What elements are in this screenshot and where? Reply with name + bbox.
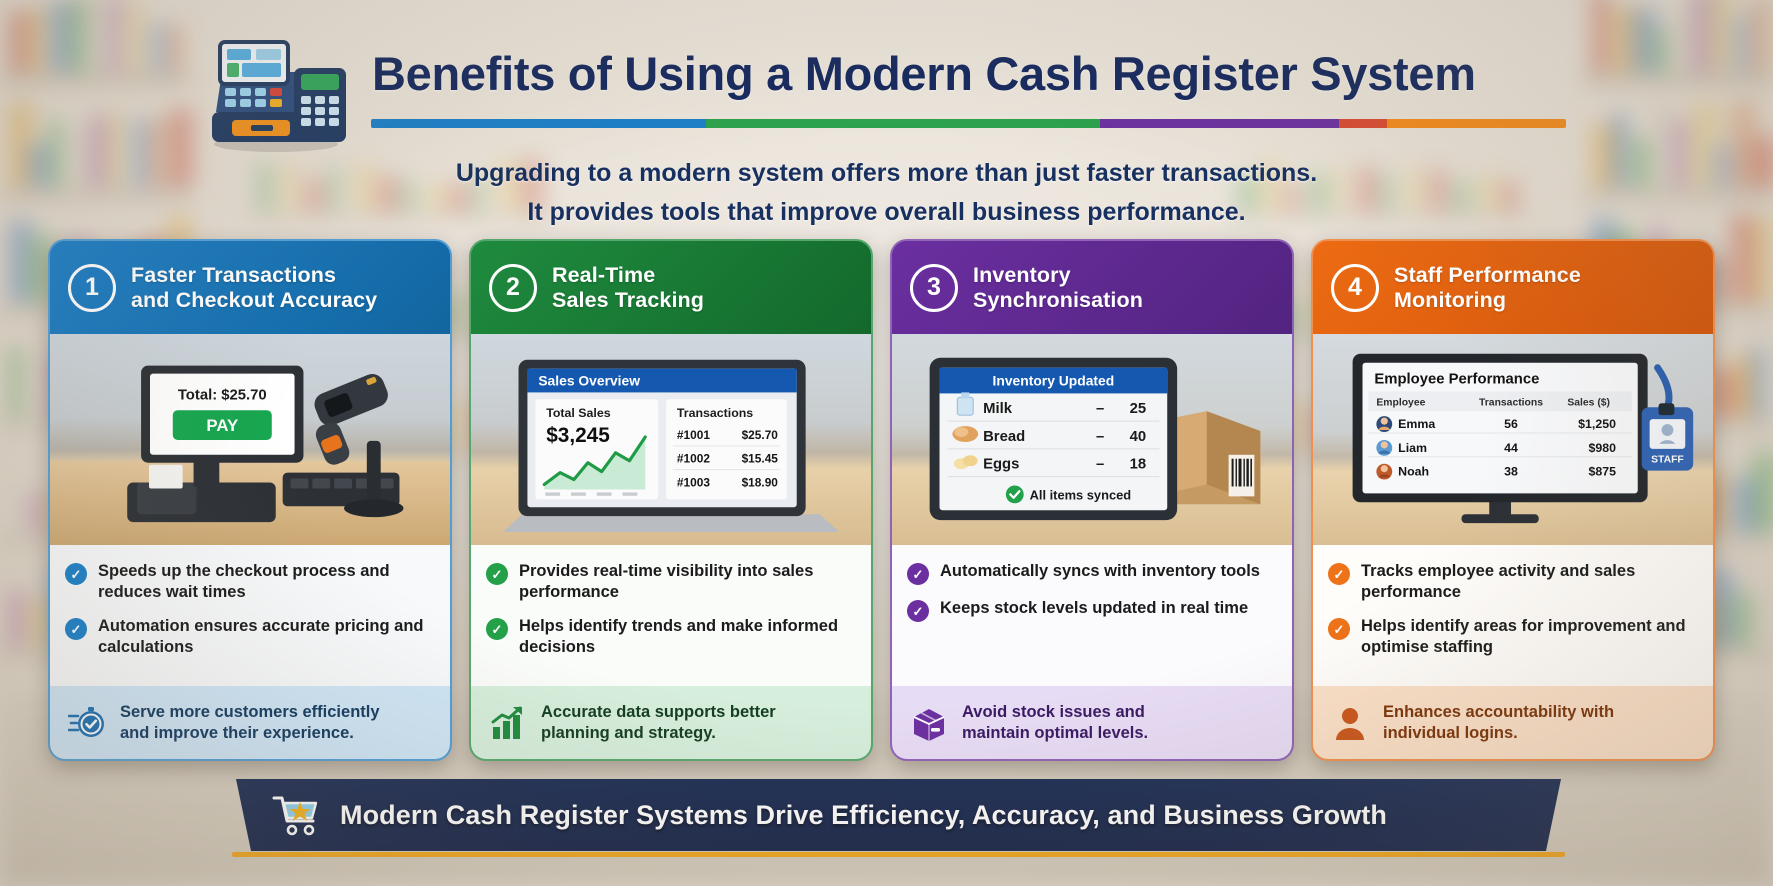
- person-icon: [1331, 704, 1369, 742]
- svg-text:#1003: #1003: [677, 475, 710, 489]
- card-4-bullet-2-text: Helps identify areas for improvement and…: [1361, 616, 1696, 658]
- card-4-bullets: ✓ Tracks employee activity and sales per…: [1313, 545, 1713, 686]
- card-1-bullet-2-text: Automation ensures accurate pricing and …: [98, 616, 433, 658]
- check-circle-icon: ✓: [65, 618, 87, 640]
- stopwatch-icon: [68, 704, 106, 742]
- benefit-cards: 1 Faster Transactions and Checkout Accur…: [48, 239, 1732, 761]
- card-3-bullet-2: ✓ Keeps stock levels updated in real tim…: [907, 598, 1275, 622]
- card-1-footer-line-1: Serve more customers efficiently: [120, 702, 380, 723]
- accent-segment-3: [1100, 119, 1339, 128]
- avatar-icon: [1376, 464, 1392, 480]
- card-3-title: Inventory Synchronisation: [973, 263, 1143, 313]
- card-2-footer-line-1: Accurate data supports better: [541, 702, 776, 723]
- card-2-footer-text: Accurate data supports better planning a…: [541, 702, 776, 744]
- accent-segment-1: [371, 119, 706, 128]
- card-1-title-line-2: and Checkout Accuracy: [131, 288, 377, 313]
- card-1-bullets: ✓ Speeds up the checkout process and red…: [50, 545, 450, 686]
- check-circle-icon: ✓: [486, 618, 508, 640]
- svg-text:Emma: Emma: [1398, 417, 1435, 431]
- card-3-footer-line-2: maintain optimal levels.: [962, 723, 1148, 744]
- check-circle-icon: ✓: [907, 600, 929, 622]
- card-4-header: 4 Staff Performance Monitoring: [1313, 241, 1713, 334]
- svg-text:Employee Performance: Employee Performance: [1374, 372, 1539, 388]
- svg-text:$3,245: $3,245: [546, 424, 610, 447]
- svg-text:40: 40: [1130, 429, 1147, 445]
- card-2-bullet-2-text: Helps identify trends and make informed …: [519, 616, 854, 658]
- card-3-bullets: ✓ Automatically syncs with inventory too…: [892, 545, 1292, 686]
- svg-text:Eggs: Eggs: [983, 457, 1019, 473]
- card-1-title-line-1: Faster Transactions: [131, 263, 377, 288]
- svg-text:All items synced: All items synced: [1030, 487, 1132, 502]
- svg-text:38: 38: [1504, 465, 1518, 479]
- card-3-bullet-1: ✓ Automatically syncs with inventory too…: [907, 561, 1275, 585]
- svg-text:56: 56: [1504, 417, 1518, 431]
- svg-text:$980: $980: [1588, 441, 1616, 455]
- bar-chart-growth-icon: [489, 704, 527, 742]
- shopping-cart-star-icon: [272, 791, 322, 839]
- card-1-header: 1 Faster Transactions and Checkout Accur…: [50, 241, 450, 334]
- card-3-footer-line-1: Avoid stock issues and: [962, 702, 1148, 723]
- svg-text:$18.90: $18.90: [742, 475, 779, 489]
- svg-text:Total Sales: Total Sales: [546, 406, 610, 420]
- avatar-icon: [1376, 416, 1392, 432]
- svg-text:Noah: Noah: [1398, 465, 1429, 479]
- check-circle-icon: ✓: [907, 563, 929, 585]
- accent-segment-2: [706, 119, 1100, 128]
- benefit-card-3[interactable]: 3 Inventory Synchronisation: [890, 239, 1294, 761]
- svg-text:25: 25: [1130, 401, 1147, 417]
- card-2-bullet-1-text: Provides real-time visibility into sales…: [519, 561, 854, 603]
- card-3-photo: Inventory Updated Milk–25 Bread–40 Eggs–…: [892, 334, 1292, 545]
- card-3-footer: Avoid stock issues and maintain optimal …: [892, 686, 1292, 759]
- card-2-title-line-2: Sales Tracking: [552, 288, 704, 313]
- card-3-bullet-1-text: Automatically syncs with inventory tools: [940, 561, 1260, 582]
- bottom-banner: Modern Cash Register Systems Drive Effic…: [236, 779, 1561, 851]
- svg-text:Employee: Employee: [1376, 397, 1425, 408]
- benefit-card-2[interactable]: 2 Real-Time Sales Tracking Sales Overvie…: [469, 239, 873, 761]
- cash-register-icon: [196, 36, 356, 152]
- card-4-title-line-1: Staff Performance: [1394, 263, 1581, 288]
- benefit-card-1[interactable]: 1 Faster Transactions and Checkout Accur…: [48, 239, 452, 761]
- subtitle-line-2: It provides tools that improve overall b…: [0, 193, 1773, 232]
- card-4-footer-text: Enhances accountability with individual …: [1383, 702, 1614, 744]
- svg-text:–: –: [1096, 401, 1104, 417]
- card-2-bullets: ✓ Provides real-time visibility into sal…: [471, 545, 871, 686]
- package-box-icon: [910, 704, 948, 742]
- card-2-footer: Accurate data supports better planning a…: [471, 686, 871, 759]
- svg-text:Transactions: Transactions: [1479, 397, 1543, 408]
- accent-segment-5: [1387, 119, 1566, 128]
- svg-text:$1,250: $1,250: [1578, 417, 1616, 431]
- card-1-title: Faster Transactions and Checkout Accurac…: [131, 263, 377, 313]
- card-2-photo: Sales Overview Total Sales $3,245 Transa…: [471, 334, 871, 545]
- card-3-number: 3: [910, 264, 958, 312]
- page-title: Benefits of Using a Modern Cash Register…: [372, 46, 1622, 101]
- card-1-bullet-2: ✓ Automation ensures accurate pricing an…: [65, 616, 433, 658]
- svg-text:#1001: #1001: [677, 428, 710, 442]
- svg-text:–: –: [1096, 457, 1104, 473]
- card-2-title-line-1: Real-Time: [552, 263, 704, 288]
- banner-text: Modern Cash Register Systems Drive Effic…: [340, 800, 1387, 831]
- svg-text:Inventory Updated: Inventory Updated: [993, 372, 1115, 388]
- card-4-bullet-2: ✓ Helps identify areas for improvement a…: [1328, 616, 1696, 658]
- card-4-title-line-2: Monitoring: [1394, 288, 1581, 313]
- svg-text:#1002: #1002: [677, 452, 710, 466]
- svg-text:Liam: Liam: [1398, 441, 1427, 455]
- card-4-bullet-1: ✓ Tracks employee activity and sales per…: [1328, 561, 1696, 603]
- avatar-icon: [1376, 440, 1392, 456]
- card-3-header: 3 Inventory Synchronisation: [892, 241, 1292, 334]
- svg-text:PAY: PAY: [206, 416, 238, 435]
- svg-text:Sales Overview: Sales Overview: [538, 372, 640, 388]
- card-2-header: 2 Real-Time Sales Tracking: [471, 241, 871, 334]
- page-subtitle: Upgrading to a modern system offers more…: [0, 154, 1773, 232]
- card-3-title-line-2: Synchronisation: [973, 288, 1143, 313]
- header: Benefits of Using a Modern Cash Register…: [0, 14, 1773, 214]
- svg-text:Sales ($): Sales ($): [1567, 397, 1610, 408]
- accent-bar: [371, 119, 1566, 128]
- card-2-footer-line-2: planning and strategy.: [541, 723, 776, 744]
- monitor-staff-illustration: Employee Performance EmployeeTransaction…: [1313, 334, 1713, 543]
- check-circle-icon: ✓: [1328, 618, 1350, 640]
- banner-underline: [232, 852, 1565, 857]
- svg-text:Bread: Bread: [983, 429, 1025, 445]
- laptop-illustration: Sales Overview Total Sales $3,245 Transa…: [471, 334, 871, 543]
- card-2-number: 2: [489, 264, 537, 312]
- subtitle-line-1: Upgrading to a modern system offers more…: [0, 154, 1773, 193]
- card-3-bullet-2-text: Keeps stock levels updated in real time: [940, 598, 1248, 619]
- svg-text:$875: $875: [1588, 465, 1616, 479]
- card-1-photo: Total: $25.70 PAY: [50, 334, 450, 545]
- svg-text:Transactions: Transactions: [677, 406, 753, 420]
- card-4-number: 4: [1331, 264, 1379, 312]
- infographic-root: Benefits of Using a Modern Cash Register…: [0, 0, 1773, 886]
- check-circle-icon: ✓: [486, 563, 508, 585]
- check-circle-icon: ✓: [65, 563, 87, 585]
- card-2-bullet-2: ✓ Helps identify trends and make informe…: [486, 616, 854, 658]
- card-4-footer: Enhances accountability with individual …: [1313, 686, 1713, 759]
- accent-segment-4: [1339, 119, 1387, 128]
- card-4-footer-line-1: Enhances accountability with: [1383, 702, 1614, 723]
- svg-text:Total: $25.70: Total: $25.70: [178, 387, 267, 403]
- svg-text:44: 44: [1504, 441, 1518, 455]
- svg-text:STAFF: STAFF: [1651, 455, 1684, 466]
- svg-text:Milk: Milk: [983, 401, 1013, 417]
- svg-text:$25.70: $25.70: [742, 428, 779, 442]
- card-4-footer-line-2: individual logins.: [1383, 723, 1614, 744]
- pos-terminal-illustration: Total: $25.70 PAY: [50, 334, 450, 543]
- card-1-footer-text: Serve more customers efficiently and imp…: [120, 702, 380, 744]
- card-1-bullet-1: ✓ Speeds up the checkout process and red…: [65, 561, 433, 603]
- card-3-title-line-1: Inventory: [973, 263, 1143, 288]
- card-1-number: 1: [68, 264, 116, 312]
- bread-icon: [952, 426, 978, 442]
- card-2-bullet-1: ✓ Provides real-time visibility into sal…: [486, 561, 854, 603]
- card-4-photo: Employee Performance EmployeeTransaction…: [1313, 334, 1713, 545]
- card-4-title: Staff Performance Monitoring: [1394, 263, 1581, 313]
- banner-inner: Modern Cash Register Systems Drive Effic…: [236, 779, 1561, 851]
- svg-text:$15.45: $15.45: [742, 452, 779, 466]
- card-3-footer-text: Avoid stock issues and maintain optimal …: [962, 702, 1148, 744]
- check-circle-icon: ✓: [1328, 563, 1350, 585]
- card-2-title: Real-Time Sales Tracking: [552, 263, 704, 313]
- benefit-card-4[interactable]: 4 Staff Performance Monitoring Employee …: [1311, 239, 1715, 761]
- card-4-bullet-1-text: Tracks employee activity and sales perfo…: [1361, 561, 1696, 603]
- svg-text:18: 18: [1130, 457, 1147, 473]
- tablet-inventory-illustration: Inventory Updated Milk–25 Bread–40 Eggs–…: [892, 334, 1292, 543]
- card-1-footer: Serve more customers efficiently and imp…: [50, 686, 450, 759]
- svg-text:–: –: [1096, 429, 1104, 445]
- card-1-footer-line-2: and improve their experience.: [120, 723, 380, 744]
- card-1-bullet-1-text: Speeds up the checkout process and reduc…: [98, 561, 433, 603]
